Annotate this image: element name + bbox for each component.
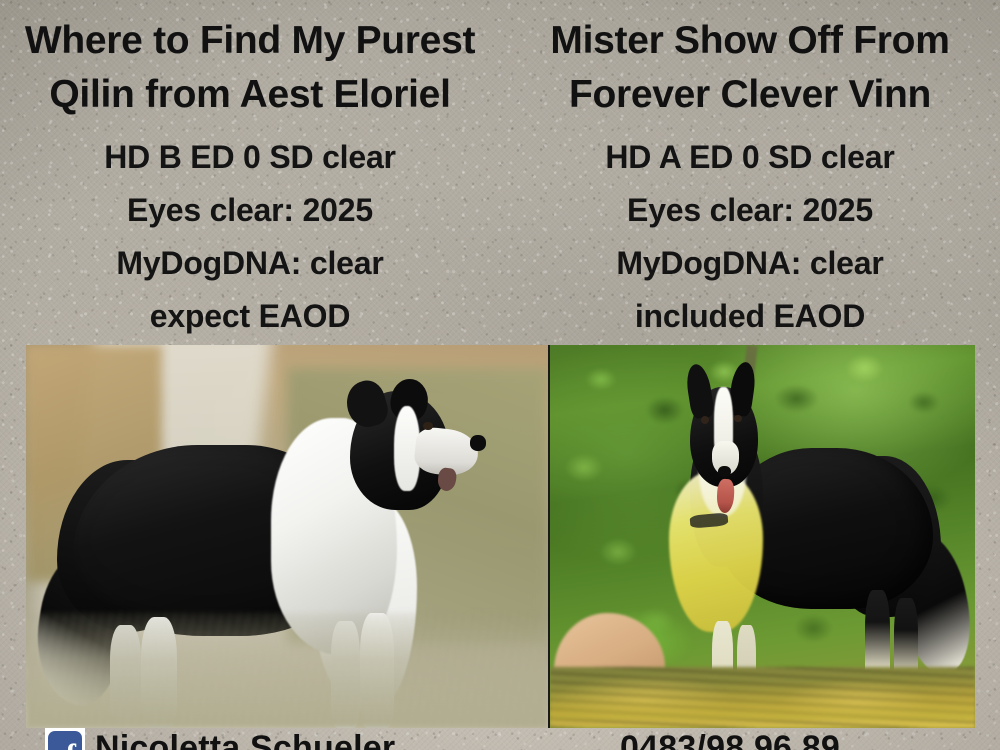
dog-health-left-line-1: HD B ED 0 SD clear <box>10 131 490 184</box>
foreground-grass <box>26 613 548 728</box>
dog-health-left-line-4: expect EAOD <box>10 290 490 343</box>
dog-eye-right <box>734 415 742 423</box>
dog-health-left-line-3: MyDogDNA: clear <box>10 237 490 290</box>
facebook-icon-tile <box>48 731 82 750</box>
dog-title-left-line-1: Where to Find My Purest <box>25 19 475 62</box>
dog-title-left: Where to Find My Purest Qilin from Aest … <box>0 14 500 122</box>
dog-eye-left <box>701 416 709 424</box>
dog-column-left: Where to Find My Purest Qilin from Aest … <box>0 0 500 345</box>
poster: Where to Find My Purest Qilin from Aest … <box>0 0 1000 750</box>
contact-phone: 0483/98 96 89 <box>620 729 840 750</box>
text-zone: Where to Find My Purest Qilin from Aest … <box>0 0 1000 345</box>
photo-row <box>26 345 975 728</box>
dog-title-right-line-2: Forever Clever Vinn <box>569 73 931 116</box>
moss-layer <box>550 682 975 720</box>
dog-health-right-line-3: MyDogDNA: clear <box>510 237 990 290</box>
dog-nose <box>470 435 487 451</box>
dog-nose <box>718 466 731 477</box>
dog-title-right-line-1: Mister Show Off From <box>550 19 949 62</box>
dog-health-right: HD A ED 0 SD clear Eyes clear: 2025 MyDo… <box>500 131 1000 343</box>
contact-name: Nicoletta Schueler <box>95 729 395 750</box>
dog-ear-left <box>684 363 715 420</box>
dog-tongue <box>437 466 458 491</box>
dog-column-right: Mister Show Off From Forever Clever Vinn… <box>500 0 1000 345</box>
dog-health-right-line-4: included EAOD <box>510 290 990 343</box>
dog-eye <box>423 422 433 431</box>
dog-health-left-line-2: Eyes clear: 2025 <box>10 184 490 237</box>
dog-health-right-line-2: Eyes clear: 2025 <box>510 184 990 237</box>
dog-title-left-line-2: Qilin from Aest Eloriel <box>49 73 450 116</box>
dog-health-right-line-1: HD A ED 0 SD clear <box>510 131 990 184</box>
dog-health-left: HD B ED 0 SD clear Eyes clear: 2025 MyDo… <box>0 131 500 343</box>
facebook-icon[interactable] <box>45 728 85 750</box>
footer-contact-bar: Nicoletta Schueler 0483/98 96 89 <box>0 728 1000 750</box>
dog-photo-left <box>26 345 548 728</box>
dog-title-right: Mister Show Off From Forever Clever Vinn <box>500 14 1000 122</box>
dog-photo-right <box>548 345 975 728</box>
